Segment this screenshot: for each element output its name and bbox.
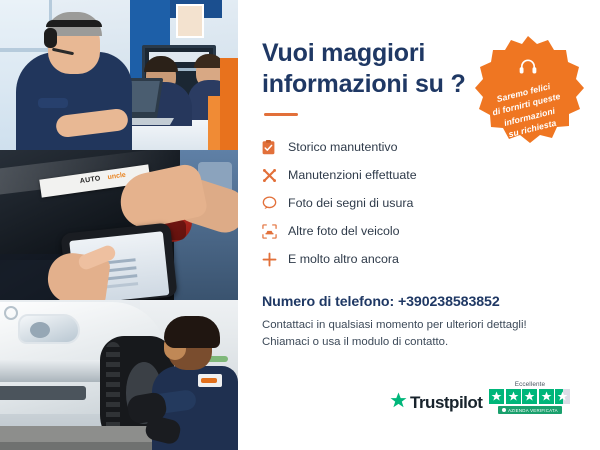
- trustpilot-rating: Eccellente AZIENDA VERIFICATA: [489, 381, 570, 415]
- front-grille: [0, 360, 116, 382]
- contact-subtext: Contattaci in qualsiasi momento per ulte…: [262, 317, 570, 352]
- headline-line-1: Vuoi maggiori: [262, 39, 425, 67]
- content-panel: Vuoi maggiori informazioni su ? Saremo f…: [238, 0, 600, 450]
- trustpilot-wordmark: Trustpilot: [410, 393, 482, 413]
- lower-grille: [0, 386, 86, 400]
- star-rating: [489, 389, 570, 404]
- list-item: Altre foto del veicolo: [262, 218, 570, 244]
- phone-label: Numero di telefono:: [262, 294, 394, 310]
- crossed-tools-icon: [262, 168, 288, 183]
- phone-number[interactable]: +390238583852: [398, 294, 500, 310]
- callout-badge: Saremo felici di fornirti queste informa…: [472, 34, 584, 146]
- star-half: [555, 389, 570, 404]
- verified-label: AZIENDA VERIFICATA: [508, 408, 558, 413]
- feature-label: Manutenzioni effettuate: [288, 168, 417, 182]
- contact-subtext-line-1: Contattaci in qualsiasi momento per ulte…: [262, 317, 570, 334]
- feature-list: Storico manutentivo Manutenzioni effettu…: [262, 134, 570, 272]
- feature-label: E molto altro ancora: [288, 252, 399, 266]
- headset-earcup: [44, 28, 57, 48]
- feature-label: Altre foto del veicolo: [288, 224, 400, 238]
- list-item: Manutenzioni effettuate: [262, 162, 570, 188]
- orange-shelf: [220, 58, 238, 150]
- star-filled: [489, 389, 504, 404]
- mechanic-hair: [164, 316, 220, 348]
- mechanic-wheel-photo: [0, 300, 238, 450]
- plus-icon: [262, 252, 288, 267]
- phone-line: Numero di telefono: +390238583852: [262, 294, 570, 310]
- list-item: E molto altro ancora: [262, 246, 570, 272]
- speech-bubble-icon: [262, 196, 288, 210]
- clipboard-check-icon: [262, 140, 288, 155]
- wall-poster: [176, 4, 204, 38]
- verified-badge: AZIENDA VERIFICATA: [498, 406, 562, 414]
- headset-icon: [519, 58, 538, 80]
- tablet-inspection-photo: AUTOuncle: [0, 150, 238, 300]
- title-underline-rule: [264, 113, 298, 116]
- car-emblem: [4, 306, 18, 320]
- headset-band: [46, 20, 102, 27]
- orange-shelf-secondary: [208, 96, 220, 150]
- page-title: Vuoi maggiori informazioni su ?: [262, 38, 472, 99]
- lift-platform-shadow: [0, 442, 152, 450]
- lift-platform: [0, 426, 152, 442]
- headlight: [18, 314, 80, 344]
- trustpilot-logo: Trustpilot: [390, 392, 482, 414]
- photo-column: AUTOuncle: [0, 0, 238, 450]
- trustpilot-star-icon: [390, 392, 407, 414]
- uniform-logo-patch: [198, 374, 222, 387]
- star-filled: [506, 389, 521, 404]
- advert-banner: AUTOuncle: [0, 0, 600, 450]
- star-filled: [539, 389, 554, 404]
- trustpilot-widget[interactable]: Trustpilot Eccellente AZIENDA VERIFICATA: [390, 381, 570, 415]
- star-filled: [522, 389, 537, 404]
- car-frame-icon: [262, 224, 288, 239]
- feature-label: Storico manutentivo: [288, 140, 398, 154]
- verified-check-icon: [502, 408, 506, 412]
- headline-line-2: informazioni su ?: [262, 70, 466, 98]
- feature-label: Foto dei segni di usura: [288, 196, 413, 210]
- window-frame-bar: [0, 48, 52, 52]
- list-item: Foto dei segni di usura: [262, 190, 570, 216]
- call-center-operators-photo: [0, 0, 238, 150]
- rating-label: Eccellente: [515, 381, 546, 388]
- contact-subtext-line-2: Chiamaci o usa il modulo di contatto.: [262, 334, 570, 351]
